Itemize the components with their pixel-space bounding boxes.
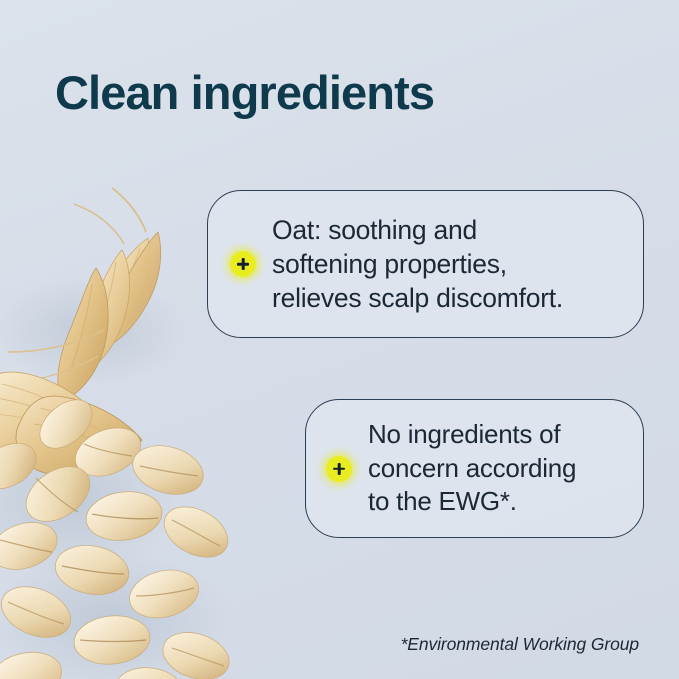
ingredient-card-oat-text: Oat: soothing and softening properties, … bbox=[272, 213, 563, 316]
ingredient-card-oat: Oat: soothing and softening properties, … bbox=[207, 190, 644, 338]
plus-icon bbox=[326, 456, 352, 482]
ingredient-card-ewg-text: No ingredients of concern according to t… bbox=[368, 418, 576, 519]
footnote: *Environmental Working Group bbox=[401, 634, 639, 655]
ingredient-card-ewg: No ingredients of concern according to t… bbox=[305, 399, 644, 538]
plus-icon bbox=[230, 251, 256, 277]
clean-ingredients-panel: Clean ingredients Oat: soothing and soft… bbox=[0, 0, 679, 679]
page-title: Clean ingredients bbox=[55, 67, 434, 120]
